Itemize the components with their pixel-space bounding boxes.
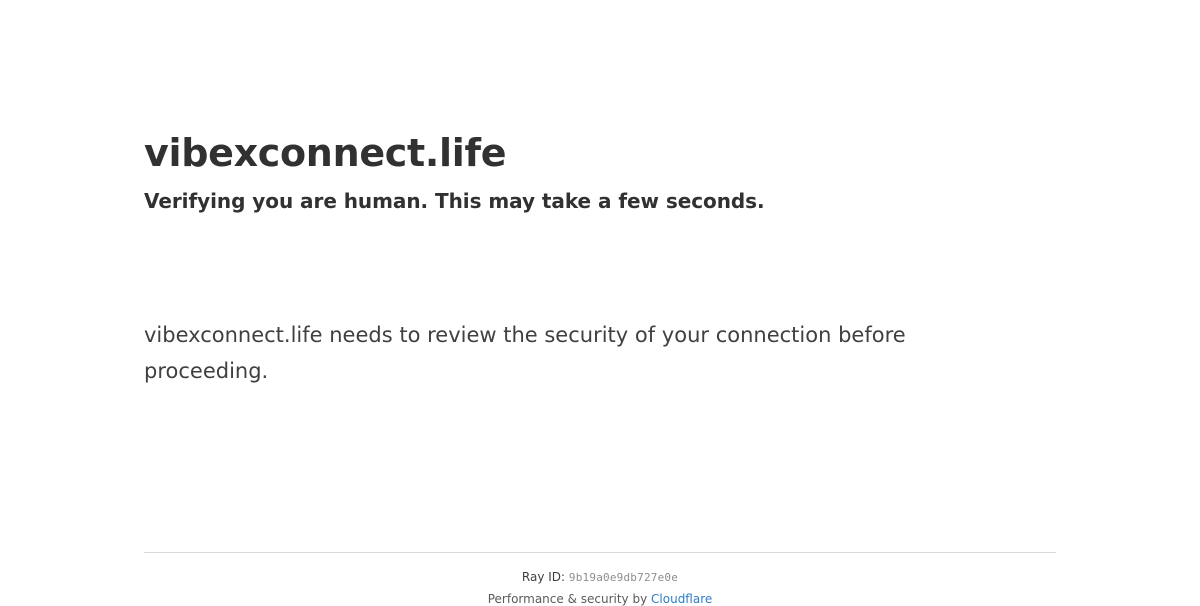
page-title: vibexconnect.life — [144, 130, 1056, 176]
cloudflare-link[interactable]: Cloudflare — [651, 592, 712, 606]
content-column: vibexconnect.life Verifying you are huma… — [144, 0, 1056, 600]
security-review-description: vibexconnect.life needs to review the se… — [144, 317, 944, 389]
challenge-page: vibexconnect.life Verifying you are huma… — [0, 0, 1200, 600]
page-footer: Ray ID: 9b19a0e9db727e0e Performance & s… — [144, 552, 1056, 606]
challenge-content: vibexconnect.life Verifying you are huma… — [144, 130, 1056, 389]
ray-id-row: Ray ID: 9b19a0e9db727e0e — [144, 570, 1056, 585]
ray-id-value: 9b19a0e9db727e0e — [569, 571, 678, 584]
attribution-row: Performance & security by Cloudflare — [144, 592, 1056, 606]
ray-id-label: Ray ID: — [522, 570, 565, 584]
footer-inner: Ray ID: 9b19a0e9db727e0e Performance & s… — [144, 553, 1056, 606]
attribution-prefix: Performance & security by — [488, 592, 647, 606]
turnstile-widget-slot[interactable] — [144, 235, 444, 307]
verification-status-text: Verifying you are human. This may take a… — [144, 187, 1056, 215]
